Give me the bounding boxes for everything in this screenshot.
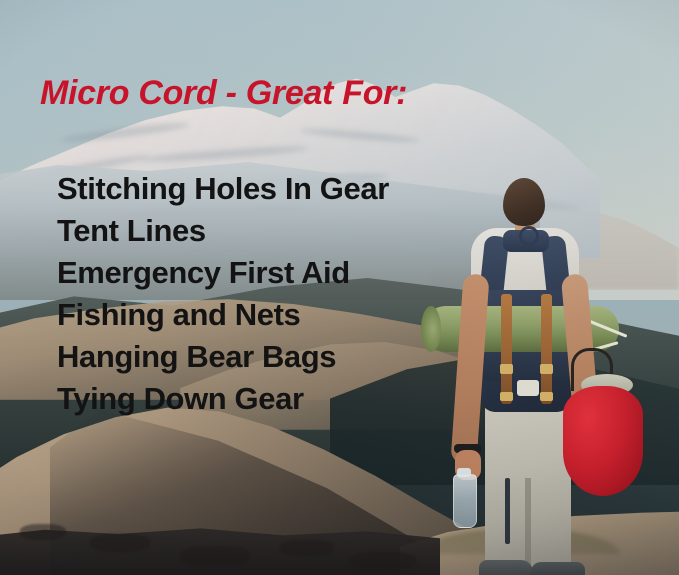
use-case-item: Stitching Holes In Gear xyxy=(57,168,487,210)
backpack-leather-strap-right xyxy=(541,294,552,404)
hiker-shoe-right xyxy=(531,562,585,575)
rock xyxy=(350,552,416,570)
hanging-pack-strap xyxy=(505,478,510,544)
rock xyxy=(90,534,150,552)
poster-headline: Micro Cord - Great For: xyxy=(40,74,407,113)
backpack-leather-strap-left xyxy=(501,294,512,404)
use-case-item: Hanging Bear Bags xyxy=(57,336,487,378)
red-stuff-sack xyxy=(563,386,643,496)
use-case-item: Emergency First Aid xyxy=(57,252,487,294)
backpack-haul-loop xyxy=(519,226,539,246)
rock xyxy=(20,524,66,540)
hiker-shoe-left xyxy=(479,560,533,575)
hiker-head xyxy=(503,178,545,226)
use-case-item: Tent Lines xyxy=(57,210,487,252)
strap-buckle xyxy=(540,364,553,374)
rock xyxy=(280,540,334,556)
use-case-item: Tying Down Gear xyxy=(57,378,487,420)
product-lifestyle-poster: Micro Cord - Great For: Stitching Holes … xyxy=(0,0,679,575)
rock xyxy=(180,546,250,566)
water-bottle xyxy=(453,474,477,528)
strap-buckle xyxy=(540,392,553,401)
backpack-logo-patch xyxy=(517,380,539,396)
strap-buckle xyxy=(500,364,513,374)
strap-buckle xyxy=(500,392,513,401)
use-case-list: Stitching Holes In Gear Tent Lines Emerg… xyxy=(57,168,487,420)
use-case-item: Fishing and Nets xyxy=(57,294,487,336)
